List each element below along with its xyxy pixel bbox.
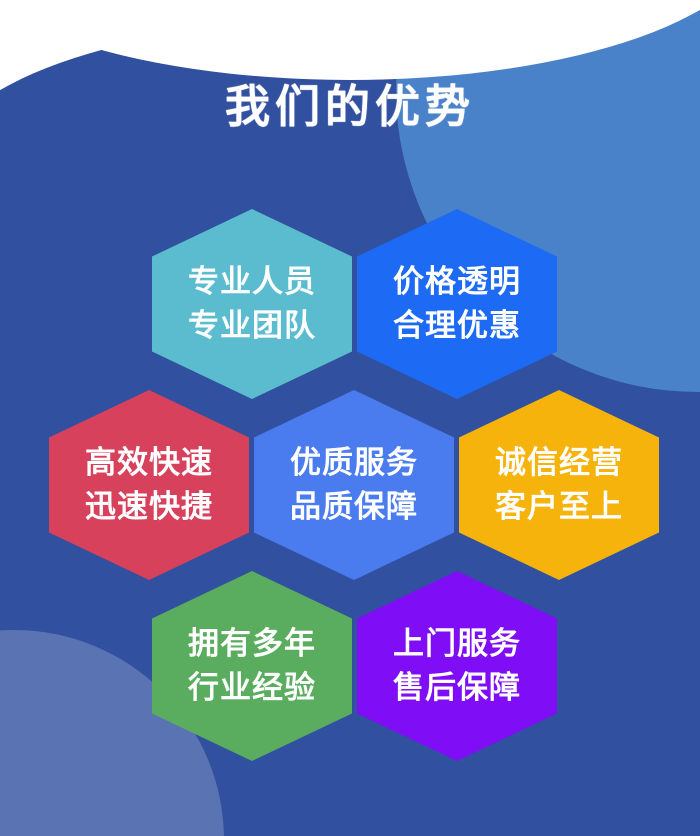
- hex-label-line2: 售后保障: [393, 666, 521, 710]
- hex-card-professional-team[interactable]: 专业人员 专业团队: [152, 209, 352, 399]
- hex-label-line1: 价格透明: [393, 260, 521, 304]
- hex-label-line2: 客户至上: [495, 485, 623, 529]
- hex-label-line2: 品质保障: [290, 485, 418, 529]
- hex-card-years-experience[interactable]: 拥有多年 行业经验: [152, 571, 352, 761]
- hex-label-line1: 专业人员: [188, 260, 316, 304]
- hex-label-line2: 合理优惠: [393, 304, 521, 348]
- hex-card-fast-efficient[interactable]: 高效快速 迅速快捷: [49, 390, 249, 580]
- hex-label-line1: 高效快速: [85, 441, 213, 485]
- hex-card-quality-service[interactable]: 优质服务 品质保障: [254, 390, 454, 580]
- hex-label-line1: 优质服务: [290, 441, 418, 485]
- hex-card-onsite-service[interactable]: 上门服务 售后保障: [357, 571, 557, 761]
- hex-label-line1: 拥有多年: [188, 622, 316, 666]
- hex-label-line2: 行业经验: [188, 666, 316, 710]
- hex-label-line1: 上门服务: [393, 622, 521, 666]
- hex-label-line1: 诚信经营: [495, 441, 623, 485]
- hex-card-integrity-business[interactable]: 诚信经营 客户至上: [459, 390, 659, 580]
- hexagon-grid: 专业人员 专业团队 价格透明 合理优惠 高效快速 迅速快捷 优质服务 品质保障 …: [0, 0, 700, 836]
- hex-label-line2: 迅速快捷: [85, 485, 213, 529]
- hex-label-line2: 专业团队: [188, 304, 316, 348]
- advantages-poster: 我们的优势 专业人员 专业团队 价格透明 合理优惠 高效快速 迅速快捷 优质服务…: [0, 0, 700, 836]
- hex-card-transparent-pricing[interactable]: 价格透明 合理优惠: [357, 209, 557, 399]
